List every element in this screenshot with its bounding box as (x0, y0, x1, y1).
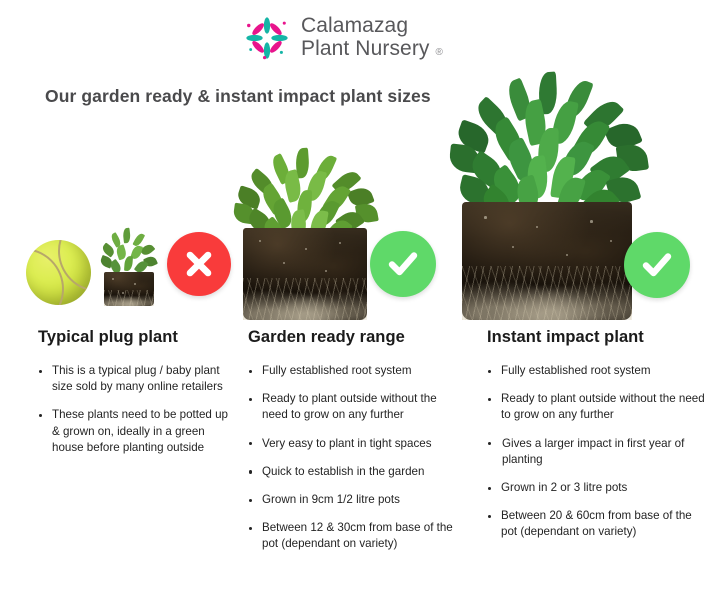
list-item: Fully established root system (248, 363, 464, 379)
check-icon (637, 245, 677, 285)
list-item: Grown in 9cm 1/2 litre pots (248, 492, 464, 508)
tick-badge-instant-impact (624, 232, 690, 298)
garden-ready-foliage (243, 148, 367, 240)
bullet-list: This is a typical plug / baby plant size… (38, 363, 238, 456)
plug-plant-photo (104, 228, 154, 306)
bullet-list: Fully established root system Ready to p… (487, 363, 705, 541)
tennis-ball-size-reference (26, 240, 91, 305)
list-item: Grown in 2 or 3 litre pots (487, 480, 705, 496)
infographic-page: Calamazag Plant Nursery ® Our garden rea… (0, 0, 720, 604)
column-heading: Garden ready range (248, 328, 464, 347)
instant-impact-rootball (462, 202, 632, 320)
list-item: These plants need to be potted up & grow… (38, 407, 238, 456)
garden-ready-plant-photo (243, 148, 367, 320)
instant-impact-foliage (462, 72, 632, 212)
list-item: Ready to plant outside without the need … (248, 391, 464, 423)
check-icon (383, 244, 423, 284)
cross-icon (180, 245, 218, 283)
garden-ready-rootball (243, 228, 367, 320)
brand-line-2: Plant Nursery (301, 38, 430, 61)
cross-badge (167, 232, 231, 296)
brand-logo: Calamazag Plant Nursery ® (243, 14, 443, 62)
column-typical-plug-plant: Typical plug plant This is a typical plu… (38, 328, 238, 468)
column-instant-impact-plant: Instant impact plant Fully established r… (487, 328, 705, 553)
instant-impact-plant-photo (462, 72, 632, 320)
brand-wordmark: Calamazag Plant Nursery ® (301, 15, 443, 60)
column-garden-ready-range: Garden ready range Fully established roo… (248, 328, 464, 565)
plant-comparison-visuals (0, 60, 720, 322)
list-item: Very easy to plant in tight spaces (248, 436, 464, 452)
list-item: Between 12 & 30cm from base of the pot (… (248, 520, 464, 552)
list-item: This is a typical plug / baby plant size… (38, 363, 238, 395)
column-heading: Instant impact plant (487, 328, 705, 347)
brand-line-1: Calamazag (301, 15, 443, 38)
tick-badge-garden-ready (370, 231, 436, 297)
plug-plant-rootball (104, 272, 154, 306)
list-item: Ready to plant outside without the need … (487, 391, 705, 423)
brand-line-2-wrap: Plant Nursery ® (301, 38, 443, 61)
bullet-list: Fully established root system Ready to p… (248, 363, 464, 553)
flower-starburst-icon (243, 14, 291, 62)
registered-mark: ® (436, 48, 443, 58)
list-item: Between 20 & 60cm from base of the pot (… (487, 508, 705, 540)
list-item: Fully established root system (487, 363, 705, 379)
plug-plant-foliage (104, 228, 154, 274)
list-item: Quick to establish in the garden (248, 464, 464, 480)
list-item: Gives a larger impact in first year of p… (487, 436, 705, 468)
column-heading: Typical plug plant (38, 328, 238, 347)
